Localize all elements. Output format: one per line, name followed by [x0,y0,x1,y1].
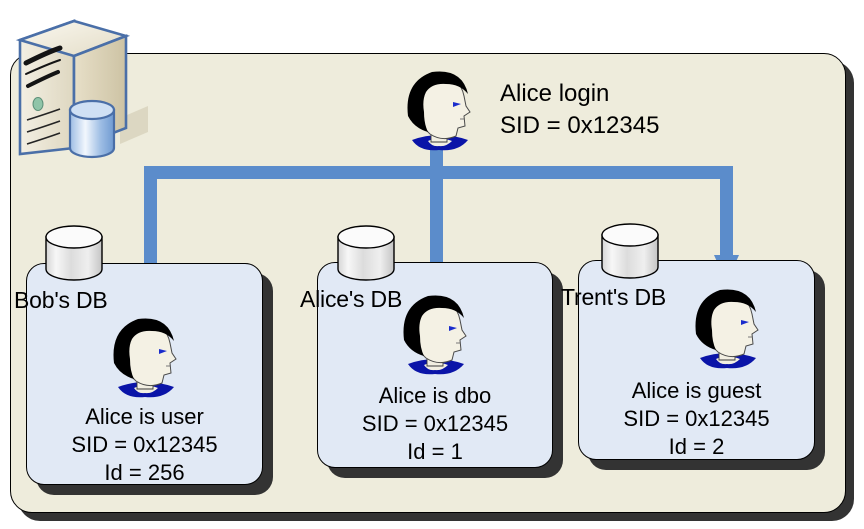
db-text-line: Alice is guest [578,377,815,405]
db-text-line: Id = 1 [317,438,553,466]
alice-login-line2: SID = 0x12345 [500,110,659,142]
database-cylinder-icon [594,222,666,280]
person-head-icon [104,313,186,407]
server-tower-icon [8,8,158,168]
db-text-trents: Alice is guest SID = 0x12345 Id = 2 [578,377,815,461]
db-text-bobs: Alice is user SID = 0x12345 Id = 256 [26,403,263,487]
person-head-icon [398,66,480,160]
diagram-canvas: Alice login SID = 0x12345 Bob's DB Alice… [0,0,864,529]
alice-login-line1: Alice login [500,78,659,110]
db-text-line: Id = 256 [26,459,263,487]
db-text-line: Alice is user [26,403,263,431]
db-text-line: Alice is dbo [317,382,553,410]
person-head-icon [394,290,476,384]
person-head-icon [686,284,768,378]
db-label-bobs: Bob's DB [14,287,108,314]
db-text-line: SID = 0x12345 [578,405,815,433]
db-label-trents: Trent's DB [561,284,666,311]
database-cylinder-icon [38,224,110,282]
db-text-alices: Alice is dbo SID = 0x12345 Id = 1 [317,382,553,466]
db-label-alices: Alice's DB [300,286,402,313]
database-cylinder-icon [330,224,402,282]
db-text-line: SID = 0x12345 [26,431,263,459]
db-text-line: SID = 0x12345 [317,410,553,438]
db-text-line: Id = 2 [578,433,815,461]
alice-login-caption: Alice login SID = 0x12345 [500,78,659,142]
